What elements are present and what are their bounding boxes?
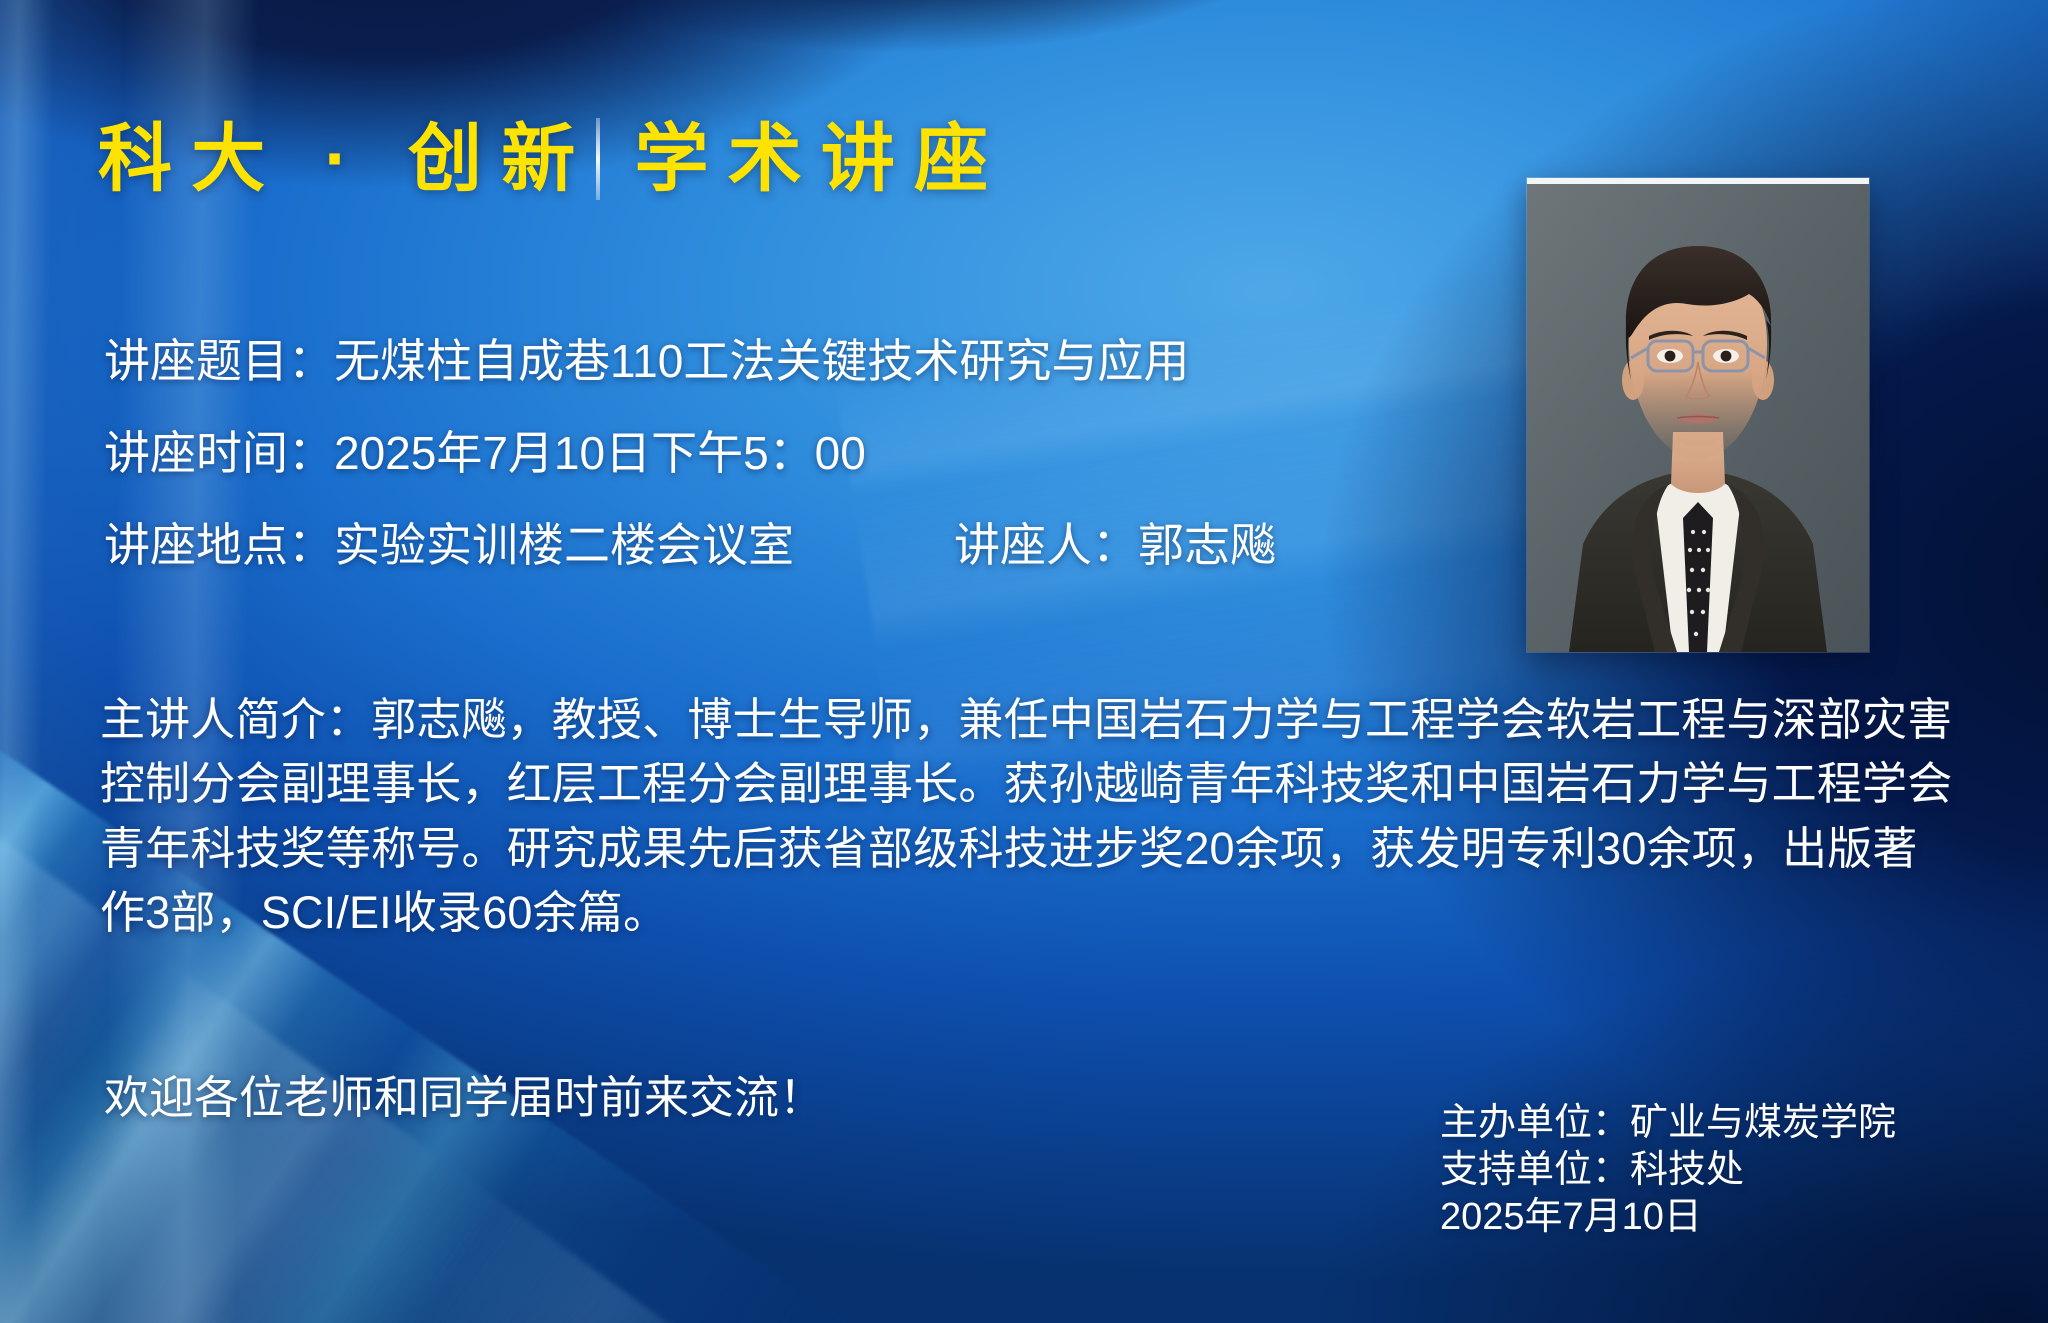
organizer-block: 主办单位：矿业与煤炭学院 支持单位：科技处 2025年7月10日 — [1440, 1100, 1980, 1241]
brand-title: 科大 · 创新 — [98, 122, 594, 196]
lecture-topic: 讲座题目：无煤柱自成巷110工法关键技术研究与应用 — [104, 338, 1484, 384]
support-organization: 支持单位：科技处 — [1440, 1147, 1980, 1194]
title-divider — [596, 118, 600, 200]
speaker-biography: 主讲人简介：郭志飚，教授、博士生导师，兼任中国岩石力学与工程学会软岩工程与深部灾… — [100, 688, 1960, 945]
host-organization: 主办单位：矿业与煤炭学院 — [1440, 1100, 1980, 1147]
lecture-speaker: 讲座人：郭志飚 — [954, 522, 1276, 568]
welcome-note: 欢迎各位老师和同学届时前来交流！ — [104, 1075, 824, 1120]
lecture-poster: 科大 · 创新 学术讲座 讲座题目：无煤柱自成巷110工法关键技术研究与应用 讲… — [0, 0, 2048, 1323]
speaker-portrait-illustration — [1527, 184, 1869, 652]
poster-content: 科大 · 创新 学术讲座 讲座题目：无煤柱自成巷110工法关键技术研究与应用 讲… — [0, 0, 2048, 1323]
section-title: 学术讲座 — [634, 122, 1007, 196]
speaker-portrait — [1527, 178, 1869, 652]
lecture-info-block: 讲座题目：无煤柱自成巷110工法关键技术研究与应用 讲座时间：2025年7月10… — [104, 338, 1484, 614]
publish-date: 2025年7月10日 — [1440, 1194, 1980, 1241]
lecture-time: 讲座时间：2025年7月10日下午5：00 — [104, 430, 1484, 476]
lecture-place-and-speaker: 讲座地点：实验实训楼二楼会议室 讲座人：郭志飚 — [104, 522, 1484, 568]
lecture-place: 讲座地点：实验实训楼二楼会议室 — [104, 522, 794, 568]
poster-header: 科大 · 创新 学术讲座 — [98, 118, 1007, 200]
